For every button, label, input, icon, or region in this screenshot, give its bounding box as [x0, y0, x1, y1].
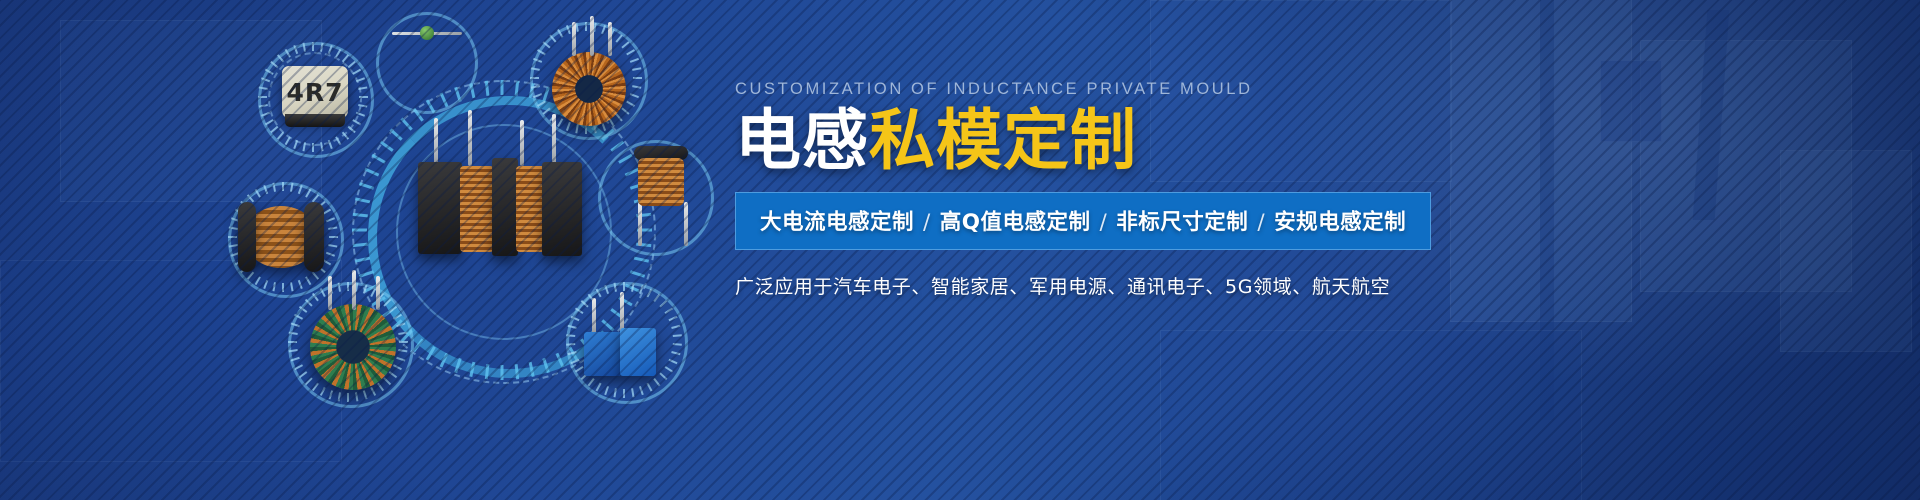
feature-item-2: 高Q值电感定制 [940, 210, 1091, 235]
feature-bar: 大电流电感定制/高Q值电感定制/非标尺寸定制/安规电感定制 [735, 192, 1431, 250]
feature-separator: / [1091, 210, 1117, 235]
english-tagline: CUSTOMIZATION OF INDUCTANCE PRIVATE MOUL… [735, 80, 1735, 99]
page-title: 电感私模定制 [735, 107, 1735, 176]
headline-yellow-part: 私模定制 [869, 102, 1137, 179]
application-subtitle: 广泛应用于汽车电子、智能家居、军用电源、通讯电子、5G领域、航天航空 [735, 272, 1735, 299]
feature-separator: / [1248, 210, 1274, 235]
feature-item-3: 非标尺寸定制 [1116, 210, 1248, 235]
feature-item-4: 安规电感定制 [1274, 210, 1406, 235]
feature-item-1: 大电流电感定制 [760, 210, 914, 235]
headline-white-part: 电感 [735, 102, 869, 179]
feature-list: 大电流电感定制/高Q值电感定制/非标尺寸定制/安规电感定制 [760, 210, 1406, 235]
promo-banner: 4R7 [0, 0, 1920, 500]
banner-text-block: CUSTOMIZATION OF INDUCTANCE PRIVATE MOUL… [735, 80, 1735, 299]
feature-separator: / [914, 210, 940, 235]
